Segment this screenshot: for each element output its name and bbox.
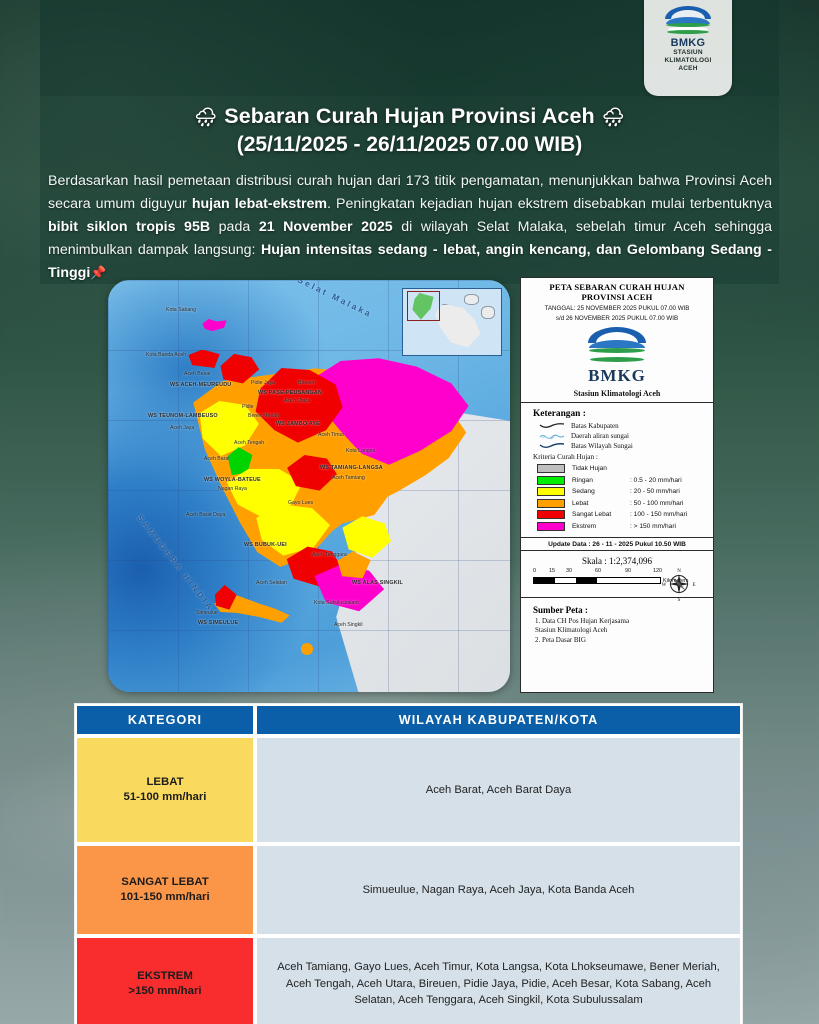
- summary-paragraph: Berdasarkan hasil pemetaan distribusi cu…: [48, 170, 772, 285]
- scale-tick-4: 90: [625, 568, 631, 574]
- para-bold-2: bibit siklon tropis 95B: [48, 219, 210, 235]
- legend-line-label-1: Daerah aliran sungai: [571, 432, 629, 440]
- table-cell-regions-ekstrem: Aceh Tamiang, Gayo Lues, Aceh Timur, Kot…: [255, 936, 742, 1024]
- category-name-0: LEBAT: [146, 775, 183, 790]
- legend-keterangan-heading: Keterangan :: [533, 409, 707, 419]
- legend-line-item-batas-kabupaten: Batas Kabupaten: [539, 422, 707, 430]
- map-label-aceh-singkil: Aceh Singkil: [334, 622, 363, 628]
- table-cell-category-lebat: LEBAT 51-100 mm/hari: [75, 736, 255, 844]
- legend-swatch-ringan: [537, 476, 565, 485]
- legend-date-line1: TANGGAL: 25 NOVEMBER 2025 PUKUL 07.00 WI…: [527, 305, 707, 313]
- legend-criteria-name-4: Sangat Lebat: [572, 511, 630, 518]
- rainfall-map[interactable]: Selat Malaka SAMUDERA HINDIA Kota Sabang…: [108, 280, 510, 692]
- bmkg-sub-line3: ACEH: [664, 65, 711, 73]
- table-header-wilayah: WILAYAH KABUPATEN/KOTA: [255, 704, 742, 736]
- inset-highlight-box: [407, 291, 440, 321]
- map-label-aceh-barat: Aceh Barat: [204, 456, 230, 462]
- bmkg-logo-badge: BMKG STASIUN KLIMATOLOGI ACEH: [644, 0, 732, 96]
- legend-criteria-value-4: : 100 - 150 mm/hari: [630, 511, 687, 518]
- map-label-ws-bubuk-uei: WS BUBUK-UEI: [244, 542, 287, 548]
- category-range-0: 51-100 mm/hari: [124, 790, 207, 805]
- legend-line-label-0: Batas Kabupaten: [571, 422, 619, 430]
- legend-scale-section: Skala : 1:2,374,096 0 15 30 60 90 120 Ki…: [521, 551, 713, 598]
- map-label-aceh-tamiang: Aceh Tamiang: [332, 475, 365, 481]
- category-name-1: SANGAT LEBAT: [121, 875, 209, 890]
- legend-criteria-name-1: Ringan: [572, 477, 630, 484]
- legend-update-text: Update Data : 26 - 11 - 2025 Pukul 10.50…: [521, 538, 713, 550]
- map-aceh-regions: [140, 313, 486, 618]
- legend-criteria-name-5: Ekstrem: [572, 523, 630, 530]
- map-label-gayo-lues: Gayo Lues: [288, 500, 313, 506]
- compass-rose-icon: N S E W: [661, 566, 697, 602]
- table-header-row: KATEGORI WILAYAH KABUPATEN/KOTA: [75, 704, 742, 736]
- legend-criteria-value-5: : > 150 mm/hari: [630, 523, 676, 530]
- legend-criteria-value-3: : 50 - 100 mm/hari: [630, 500, 684, 507]
- legend-criteria-row-sangat-lebat: Sangat Lebat : 100 - 150 mm/hari: [537, 510, 707, 519]
- svg-text:S: S: [678, 598, 681, 602]
- legend-swatch-sedang: [537, 487, 565, 496]
- bmkg-logo-subtitle: STASIUN KLIMATOLOGI ACEH: [664, 49, 711, 73]
- legend-keterangan-section: Keterangan : Batas Kabupaten Daerah alir…: [521, 403, 713, 538]
- map-label-aceh-selatan: Aceh Selatan: [256, 580, 287, 586]
- category-range-1: 101-150 mm/hari: [120, 890, 209, 905]
- legend-bmkg-name: BMKG: [588, 366, 646, 386]
- map-label-bener-meriah: Bener Meriah: [248, 413, 279, 419]
- legend-criteria-name-3: Lebat: [572, 500, 630, 507]
- line-dark-icon: [539, 422, 565, 430]
- para-bold-1: hujan lebat-ekstrem: [192, 196, 327, 212]
- title-block: 🌧 Sebaran Curah Hujan Provinsi Aceh 🌧 (2…: [40, 104, 779, 157]
- map-label-ws-pase-peusangan: WS PASE-PEUSANGAN: [258, 390, 322, 396]
- legend-title-line2: PROVINSI ACEH: [527, 292, 707, 302]
- map-label-simeulue: Simeulue: [196, 610, 218, 616]
- legend-date-line2: s/d 26 NOVEMBER 2025 PUKUL 07.00 WIB: [527, 315, 707, 323]
- page-title: 🌧 Sebaran Curah Hujan Provinsi Aceh 🌧: [40, 104, 779, 129]
- bmkg-emblem-icon-legend: [585, 327, 649, 365]
- legend-sumber-item-0: 1. Data CH Pos Hujan Kerjasama: [535, 617, 707, 626]
- legend-criteria-value-1: : 0.5 - 20 mm/hari: [630, 477, 682, 484]
- para-bold-3: 21 November 2025: [259, 219, 393, 235]
- legend-sumber-section: Sumber Peta : 1. Data CH Pos Hujan Kerja…: [521, 598, 713, 649]
- legend-kriteria-heading: Kriteria Curah Hujan :: [533, 453, 707, 461]
- legend-sumber-item-2: 2. Peta Dasar BIG: [535, 636, 707, 645]
- page-subtitle: (25/11/2025 - 26/11/2025 07.00 WIB): [40, 133, 779, 157]
- map-label-ws-teunom-lambeuso: WS TEUNOM-LAMBEUSO: [148, 413, 218, 419]
- map-label-aceh-timur: Aceh Timur: [318, 432, 344, 438]
- pushpin-icon: 📌: [90, 265, 106, 280]
- rainfall-category-table: KATEGORI WILAYAH KABUPATEN/KOTA LEBAT 51…: [74, 703, 743, 1024]
- map-legend-panel: PETA SEBARAN CURAH HUJAN PROVINSI ACEH T…: [520, 277, 714, 693]
- line-blue-icon: [539, 442, 565, 450]
- legend-sumber-item-1: Stasiun Klimatologi Aceh: [535, 626, 707, 635]
- scale-tick-1: 15: [549, 568, 555, 574]
- scale-bar: 0 15 30 60 90 120 Kilometers N S E: [533, 568, 701, 590]
- page-title-text: Sebaran Curah Hujan Provinsi Aceh: [224, 104, 595, 129]
- svg-text:E: E: [692, 583, 695, 588]
- bmkg-emblem-icon: [663, 6, 713, 36]
- scale-tick-0: 0: [533, 568, 536, 574]
- legend-swatch-tidak-hujan: [537, 464, 565, 473]
- map-label-kota-sabang: Kota Sabang: [166, 307, 196, 313]
- map-label-kota-subulussalam: Kota Subulussalam: [314, 600, 359, 606]
- map-label-ws-tamiang-langsa: WS TAMIANG-LANGSA: [320, 465, 383, 471]
- map-label-pidie: Pidie: [242, 404, 254, 410]
- legend-criteria-row-ekstrem: Ekstrem : > 150 mm/hari: [537, 522, 707, 531]
- map-label-aceh-tenggara: Aceh Tenggara: [312, 552, 347, 558]
- map-label-aceh-besar: Aceh Besar: [184, 371, 211, 377]
- legend-line-item-daerah-aliran-sungai: Daerah aliran sungai: [539, 432, 707, 440]
- legend-station-name: Stasiun Klimatologi Aceh: [527, 389, 707, 398]
- legend-swatch-lebat: [537, 499, 565, 508]
- legend-bmkg-logo: BMKG: [527, 327, 707, 386]
- legend-scale-text: Skala : 1:2,374,096: [527, 556, 707, 566]
- scale-tick-3: 60: [595, 568, 601, 574]
- map-label-kota-banda-aceh: Kota Banda Aceh: [146, 352, 186, 358]
- map-label-ws-aceh-meureudu: WS ACEH-MEUREUDU: [170, 382, 231, 388]
- legend-criteria-row-ringan: Ringan : 0.5 - 20 mm/hari: [537, 476, 707, 485]
- legend-criteria-row-lebat: Lebat : 50 - 100 mm/hari: [537, 499, 707, 508]
- map-label-aceh-utara: Aceh Utara: [284, 398, 310, 404]
- bmkg-sub-line2: KLIMATOLOGI: [664, 57, 711, 65]
- bmkg-sub-line1: STASIUN: [664, 49, 711, 57]
- rain-cloud-icon-left: 🌧: [194, 108, 217, 126]
- map-island-small-south: [301, 643, 313, 655]
- legend-sumber-heading: Sumber Peta :: [533, 605, 707, 615]
- map-label-ws-jambo-aye: WS JAMBO AYE: [276, 421, 320, 427]
- map-label-ws-woyla-bateue: WS WOYLA-BATEUE: [204, 477, 261, 483]
- legend-criteria-name-2: Sedang: [572, 488, 630, 495]
- map-label-bireuen: Bireuen: [298, 380, 316, 386]
- table-cell-regions-sangat-lebat: Simueulue, Nagan Raya, Aceh Jaya, Kota B…: [255, 844, 742, 936]
- legend-title-line1: PETA SEBARAN CURAH HUJAN: [527, 282, 707, 292]
- svg-text:N: N: [677, 569, 681, 574]
- map-label-aceh-tengah: Aceh Tengah: [234, 440, 264, 446]
- table-header-kategori: KATEGORI: [75, 704, 255, 736]
- legend-line-item-batas-wilayah-sungai: Batas Wilayah Sungai: [539, 442, 707, 450]
- legend-swatch-sangat-lebat: [537, 510, 565, 519]
- table-row: LEBAT 51-100 mm/hari Aceh Barat, Aceh Ba…: [75, 736, 742, 844]
- map-label-nagan-raya: Nagan Raya: [218, 486, 247, 492]
- legend-line-label-2: Batas Wilayah Sungai: [571, 442, 633, 450]
- legend-criteria-row-tidak-hujan: Tidak Hujan: [537, 464, 707, 473]
- table-row: SANGAT LEBAT 101-150 mm/hari Simueulue, …: [75, 844, 742, 936]
- map-label-ws-alas-singkil: WS ALAS SINGKIL: [352, 580, 403, 586]
- map-label-aceh-barat-daya: Aceh Barat Daya: [186, 512, 225, 518]
- table-row: EKSTREM >150 mm/hari Aceh Tamiang, Gayo …: [75, 936, 742, 1024]
- bmkg-logo-name: BMKG: [671, 37, 706, 49]
- river-line-icon: [539, 432, 565, 440]
- legend-criteria-row-sedang: Sedang : 20 - 50 mm/hari: [537, 487, 707, 496]
- legend-update-section: Update Data : 26 - 11 - 2025 Pukul 10.50…: [521, 538, 713, 551]
- table-cell-category-sangat-lebat: SANGAT LEBAT 101-150 mm/hari: [75, 844, 255, 936]
- legend-swatch-ekstrem: [537, 522, 565, 531]
- map-label-pidie-jaya: Pidie Jaya: [251, 380, 275, 386]
- table-cell-category-ekstrem: EKSTREM >150 mm/hari: [75, 936, 255, 1024]
- svg-text:W: W: [662, 583, 667, 588]
- table-cell-regions-lebat: Aceh Barat, Aceh Barat Daya: [255, 736, 742, 844]
- category-range-2: >150 mm/hari: [128, 984, 201, 999]
- scale-bar-graphic: [533, 577, 661, 584]
- legend-criteria-name-0: Tidak Hujan: [572, 465, 630, 472]
- category-name-2: EKSTREM: [137, 969, 193, 984]
- legend-criteria-value-2: : 20 - 50 mm/hari: [630, 488, 680, 495]
- map-label-kota-langsa: Kota Langsa: [346, 448, 375, 454]
- rain-cloud-icon-right: 🌧: [602, 108, 625, 126]
- map-label-aceh-jaya: Aceh Jaya: [170, 425, 194, 431]
- legend-header-section: PETA SEBARAN CURAH HUJAN PROVINSI ACEH T…: [521, 278, 713, 403]
- scale-tick-2: 30: [566, 568, 572, 574]
- map-label-ws-simeulue: WS SIMEULUE: [198, 620, 238, 626]
- inset-locator-map: [402, 288, 502, 356]
- para-seg-3: pada: [210, 219, 259, 235]
- para-seg-2: . Peningkatan kejadian hujan ekstrem dis…: [327, 196, 772, 212]
